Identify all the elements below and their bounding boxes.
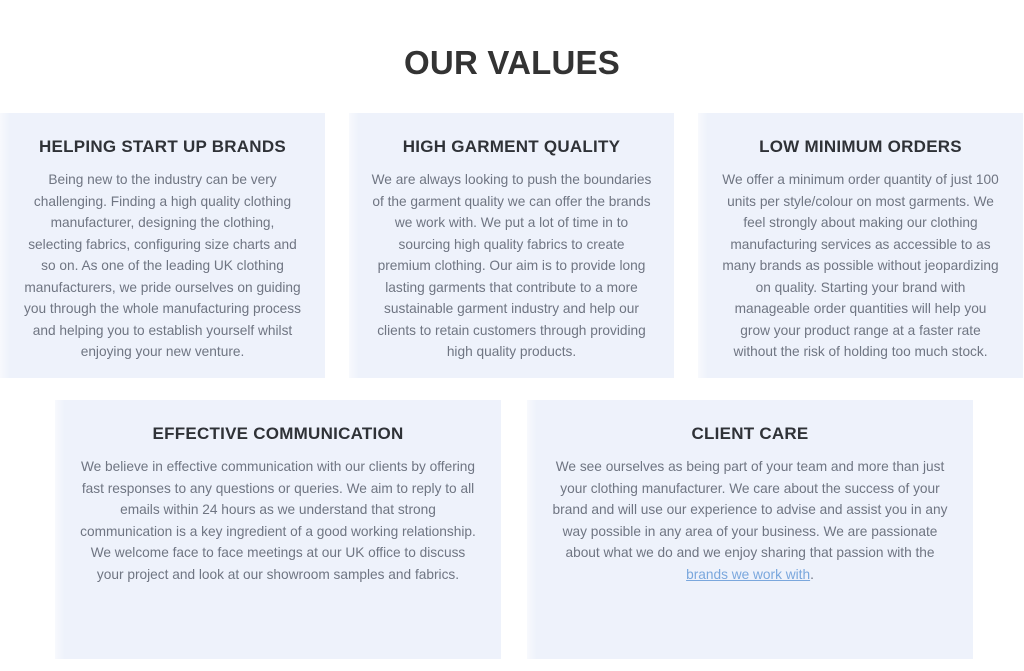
card-gap: [325, 113, 349, 378]
value-card-body: We are always looking to push the bounda…: [371, 169, 652, 363]
values-section: OUR VALUES HELPING START UP BRANDS Being…: [0, 0, 1024, 671]
value-card-title: CLIENT CARE: [549, 422, 951, 446]
values-card-row-top: HELPING START UP BRANDS Being new to the…: [0, 113, 1024, 378]
values-card-row-bottom: EFFECTIVE COMMUNICATION We believe in ef…: [55, 400, 979, 671]
value-card-body-text-before-link: We see ourselves as being part of your t…: [553, 459, 948, 560]
page-bottom-strip: [0, 659, 1024, 671]
value-card-effective-communication: EFFECTIVE COMMUNICATION We believe in ef…: [55, 400, 501, 671]
value-card-title: LOW MINIMUM ORDERS: [720, 135, 1001, 159]
value-card-high-garment-quality: HIGH GARMENT QUALITY We are always looki…: [349, 113, 674, 378]
card-gap: [674, 113, 698, 378]
value-card-body: Being new to the industry can be very ch…: [22, 169, 303, 363]
value-card-body-text-after-link: .: [810, 567, 814, 582]
card-gap: [501, 400, 527, 671]
page-title: OUR VALUES: [0, 40, 1024, 86]
value-card-title: EFFECTIVE COMMUNICATION: [77, 422, 479, 446]
brands-we-work-with-link[interactable]: brands we work with: [686, 567, 810, 582]
value-card-body: We offer a minimum order quantity of jus…: [720, 169, 1001, 363]
value-card-low-minimum-orders: LOW MINIMUM ORDERS We offer a minimum or…: [698, 113, 1023, 378]
value-card-title: HIGH GARMENT QUALITY: [371, 135, 652, 159]
value-card-helping-start-up-brands: HELPING START UP BRANDS Being new to the…: [0, 113, 325, 378]
value-card-body: We believe in effective communication wi…: [77, 456, 479, 585]
value-card-client-care: CLIENT CARE We see ourselves as being pa…: [527, 400, 973, 671]
value-card-body: We see ourselves as being part of your t…: [549, 456, 951, 585]
value-card-title: HELPING START UP BRANDS: [22, 135, 303, 159]
